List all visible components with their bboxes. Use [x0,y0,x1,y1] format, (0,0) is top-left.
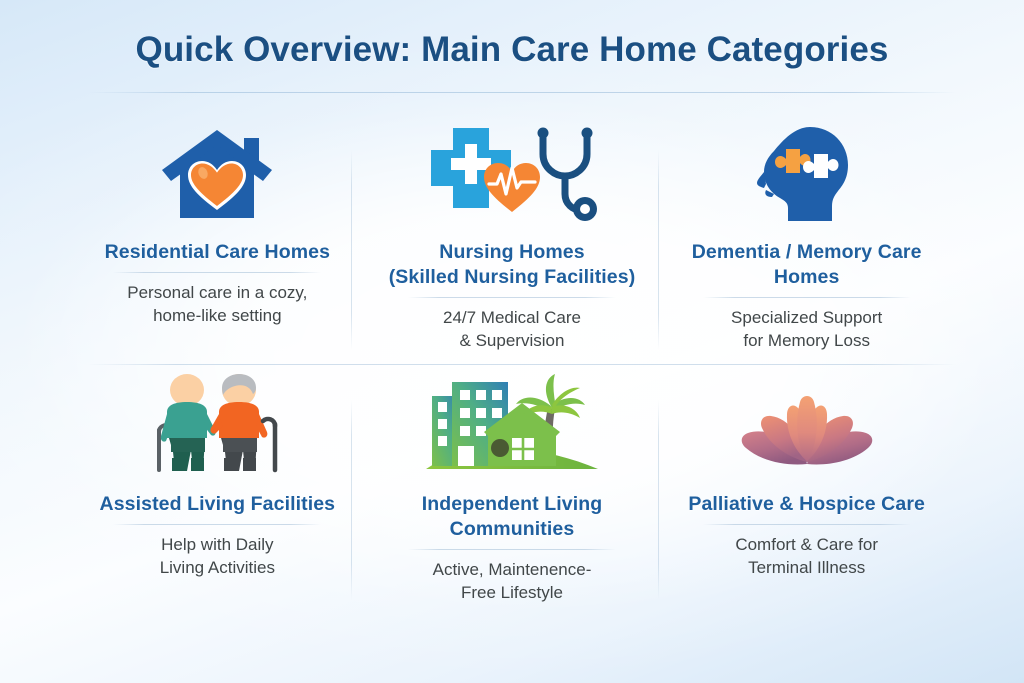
card-subtitle: Comfort & Care for Terminal Illness [735,534,878,579]
card-subtitle: Specialized Support for Memory Loss [731,307,882,352]
card-subtitle-line: Personal care in a cozy, [127,282,307,305]
house-heart-icon [158,124,276,224]
buildings-palm-tree-icon [426,372,598,476]
card-title-line: (Skilled Nursing Facilities) [389,265,636,290]
card-title: Dementia / Memory Care Homes [673,240,940,290]
icon-container [426,364,598,476]
card-subtitle-line: Free Lifestyle [433,582,592,605]
category-card-dementia[interactable]: Dementia / Memory Care Homes Specialized… [659,112,954,364]
card-title-line: Communities [422,517,603,542]
card-subtitle: Active, Maintenence- Free Lifestyle [433,559,592,604]
category-card-nursing[interactable]: Nursing Homes (Skilled Nursing Facilitie… [365,112,660,364]
icon-container [158,112,276,224]
card-title-divider [703,297,911,298]
icon-container [732,364,882,476]
category-card-independent-living[interactable]: Independent Living Communities Active, M… [365,364,660,616]
card-title: Nursing Homes (Skilled Nursing Facilitie… [389,240,636,290]
card-title-line: Residential Care Homes [105,240,330,265]
card-title-divider [408,549,616,550]
category-card-residential[interactable]: Residential Care Homes Personal care in … [70,112,365,364]
card-title-divider [703,524,911,525]
category-grid: Residential Care Homes Personal care in … [70,112,954,616]
card-subtitle-line: Terminal Illness [735,557,878,580]
infographic-canvas: Quick Overview: Main Care Home Categorie… [0,0,1024,683]
card-subtitle-line: Help with Daily [160,534,275,557]
card-title-line: Nursing Homes [389,240,636,265]
title-divider [88,92,956,93]
card-title-divider [113,524,321,525]
card-title-line: Assisted Living Facilities [100,492,336,517]
card-subtitle-line: & Supervision [443,330,581,353]
card-subtitle: Personal care in a cozy, home-like setti… [127,282,307,327]
card-subtitle-line: Comfort & Care for [735,534,878,557]
card-title-divider [113,272,321,273]
card-title: Palliative & Hospice Care [688,492,925,517]
card-subtitle-line: Specialized Support [731,307,882,330]
head-puzzle-icon [752,124,862,224]
category-card-assisted-living[interactable]: Assisted Living Facilities Help with Dai… [70,364,365,616]
page-title: Quick Overview: Main Care Home Categorie… [0,30,1024,70]
card-title-divider [408,297,616,298]
card-subtitle: 24/7 Medical Care & Supervision [443,307,581,352]
medical-cross-heart-stethoscope-icon [427,124,597,224]
card-subtitle-line: home-like setting [127,305,307,328]
card-title: Residential Care Homes [105,240,330,265]
icon-container [147,364,287,476]
card-title-line: Independent Living [422,492,603,517]
card-subtitle-line: for Memory Loss [731,330,882,353]
card-title: Independent Living Communities [422,492,603,542]
card-title-line: Dementia / Memory Care Homes [673,240,940,290]
card-title: Assisted Living Facilities [100,492,336,517]
card-subtitle-line: Active, Maintenence- [433,559,592,582]
title-block: Quick Overview: Main Care Home Categorie… [0,30,1024,70]
card-subtitle: Help with Daily Living Activities [160,534,275,579]
card-subtitle-line: 24/7 Medical Care [443,307,581,330]
icon-container [427,112,597,224]
elderly-couple-canes-icon [147,374,287,476]
icon-container [752,112,862,224]
card-title-line: Palliative & Hospice Care [688,492,925,517]
card-subtitle-line: Living Activities [160,557,275,580]
category-card-palliative[interactable]: Palliative & Hospice Care Comfort & Care… [659,364,954,616]
lotus-flower-icon [732,376,882,476]
